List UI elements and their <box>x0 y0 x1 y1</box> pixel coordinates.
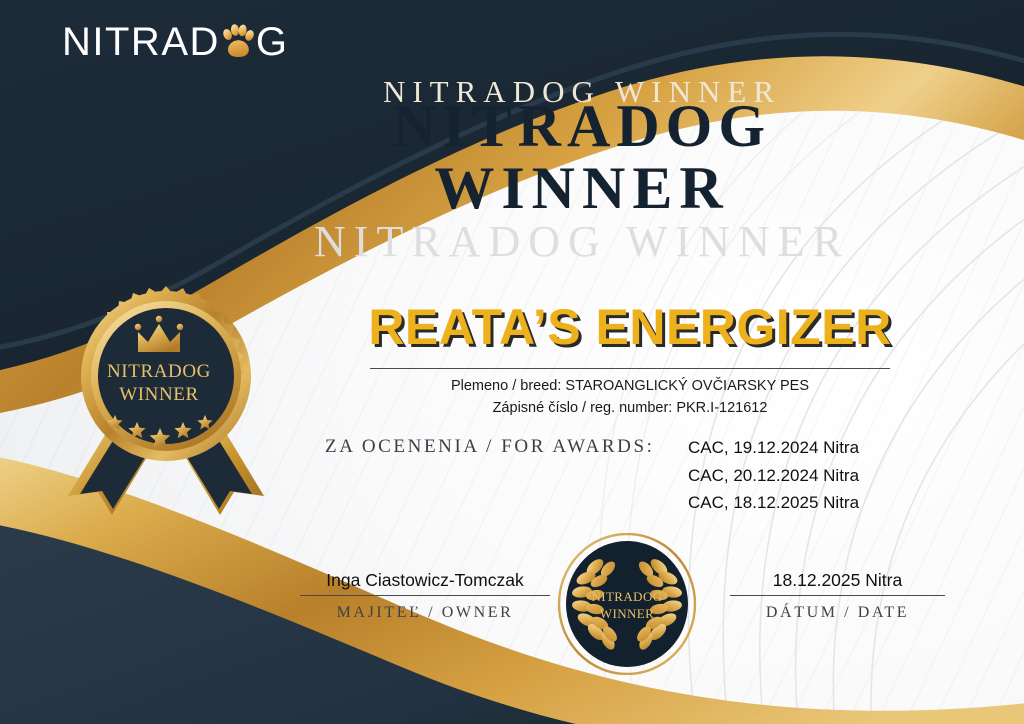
page-title-line1: NITRADOG <box>393 93 771 159</box>
recipient-divider <box>370 368 890 369</box>
brand-logo: NITRAD <box>62 22 289 62</box>
certificate: NITRAD <box>0 0 1024 724</box>
page-title: NITRADOG WINNER <box>0 96 1024 220</box>
rosette-award-badge: NITRADOG WINNER <box>52 280 282 515</box>
paw-print-icon <box>221 23 255 61</box>
logo-text-suffix: G <box>256 22 289 62</box>
breed-line: Plemeno / breed: STAROANGLICKÝ OVČIARSKY… <box>300 375 960 397</box>
title-watermark-bottom: NITRADOG WINNER <box>0 216 1024 267</box>
awards-label: ZA OCENENIA / FOR AWARDS: <box>325 436 655 458</box>
laurel-seal: NITRADOG WINNER <box>557 533 697 675</box>
recipient-name: REATA’S ENERGIZER <box>300 298 960 356</box>
owner-signature-block: Inga Ciastowicz-Tomczak MAJITEĽ / OWNER <box>300 570 550 622</box>
logo-text-prefix: NITRAD <box>62 22 220 62</box>
registration-line: Zápisné číslo / reg. number: PKR.I-12161… <box>300 397 960 419</box>
award-item: CAC, 19.12.2024 Nitra <box>688 434 859 462</box>
laurel-line2: WINNER <box>600 606 654 621</box>
owner-name: Inga Ciastowicz-Tomczak <box>300 570 550 595</box>
laurel-line1: NITRADOG <box>591 589 662 604</box>
date-value: 18.12.2025 Nitra <box>730 570 945 595</box>
rosette-line2: WINNER <box>119 384 199 405</box>
date-caption: DÁTUM / DATE <box>730 604 945 622</box>
date-signature-line <box>730 595 945 596</box>
recipient-details: Plemeno / breed: STAROANGLICKÝ OVČIARSKY… <box>300 375 960 420</box>
award-item: CAC, 20.12.2024 Nitra <box>688 462 859 490</box>
date-signature-block: 18.12.2025 Nitra DÁTUM / DATE <box>730 570 945 622</box>
page-title-line2: WINNER <box>140 158 1024 220</box>
award-item: CAC, 18.12.2025 Nitra <box>688 489 859 517</box>
owner-caption: MAJITEĽ / OWNER <box>300 604 550 622</box>
rosette-line1: NITRADOG <box>107 361 211 382</box>
owner-signature-line <box>300 595 550 596</box>
awards-list: CAC, 19.12.2024 Nitra CAC, 20.12.2024 Ni… <box>688 434 859 517</box>
